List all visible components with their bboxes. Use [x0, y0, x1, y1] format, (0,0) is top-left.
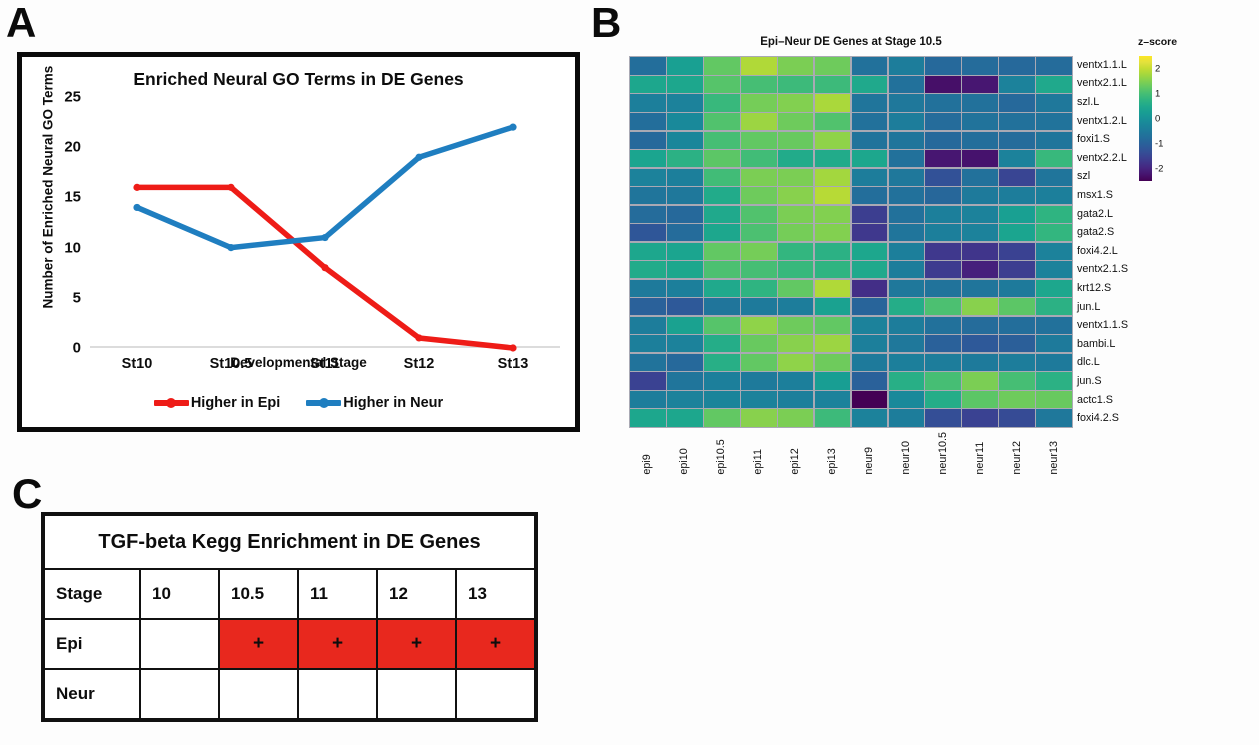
heatmap-cell — [962, 335, 997, 352]
heatmap-cell — [1036, 409, 1071, 426]
heatmap-cell — [778, 372, 813, 389]
heatmap-cell — [815, 409, 851, 426]
table-column-header: 12 — [377, 569, 456, 619]
heatmap-cell — [630, 57, 665, 74]
heatmap-row-label: jun.S — [1077, 372, 1128, 391]
heatmap-cell — [999, 409, 1035, 426]
x-tick-label: St10 — [122, 356, 153, 372]
heatmap-row-label: ventx1.1.S — [1077, 316, 1128, 335]
heatmap-cell — [667, 409, 703, 426]
heatmap-cell — [925, 335, 961, 352]
table-cell-empty — [298, 669, 377, 719]
heatmap-cell — [630, 261, 665, 278]
heatmap-cell — [852, 317, 888, 334]
colorbar-tick-label: -2 — [1155, 163, 1163, 174]
heatmap-cell — [741, 261, 777, 278]
heatmap-cell — [852, 391, 888, 408]
heatmap-cell — [925, 354, 961, 371]
heatmap-cell — [630, 150, 665, 167]
heatmap-cell — [741, 280, 777, 297]
heatmap-cell — [667, 354, 703, 371]
heatmap-cell — [630, 187, 665, 204]
data-point — [321, 234, 328, 241]
heatmap-cell — [630, 94, 665, 111]
table-column-header: 10.5 — [219, 569, 298, 619]
heatmap-cell — [925, 94, 961, 111]
heatmap-cell — [741, 224, 777, 241]
heatmap-cell — [778, 224, 813, 241]
heatmap-cell — [962, 391, 997, 408]
legend-label: Higher in Epi — [191, 395, 280, 411]
colorbar-tick-label: -1 — [1155, 138, 1163, 149]
heatmap-cell — [741, 169, 777, 186]
table-row-label: Epi — [44, 619, 140, 669]
legend-label: Higher in Neur — [343, 395, 443, 411]
heatmap-cell — [704, 409, 739, 426]
data-point — [415, 154, 422, 161]
table-row: Neur — [44, 669, 535, 719]
heatmap-column-label: neur10.5 — [938, 432, 949, 475]
heatmap-cell — [889, 150, 924, 167]
heatmap-cell — [778, 132, 813, 149]
heatmap-cell — [1036, 372, 1071, 389]
heatmap-cell — [667, 280, 703, 297]
heatmap-column-labels: epi9epi10epi10.5epi11epi12epi13neur9neur… — [629, 432, 1073, 475]
heatmap-row-label: actc1.S — [1077, 391, 1128, 410]
heatmap-cell — [815, 94, 851, 111]
heatmap-cell — [815, 280, 851, 297]
heatmap-cell — [741, 132, 777, 149]
heatmap-cell — [889, 391, 924, 408]
heatmap-cell — [1036, 243, 1071, 260]
heatmap-cell — [1036, 150, 1071, 167]
heatmap-cell — [962, 94, 997, 111]
table-column-header: 10 — [140, 569, 219, 619]
heatmap-cell — [962, 354, 997, 371]
heatmap-cell — [962, 243, 997, 260]
heatmap-cell — [778, 317, 813, 334]
heatmap-cell — [778, 57, 813, 74]
table-header-stage: Stage — [44, 569, 140, 619]
heatmap-cell — [778, 354, 813, 371]
heatmap-cell — [815, 317, 851, 334]
heatmap-column-label: epi13 — [827, 432, 838, 475]
heatmap-cell — [741, 409, 777, 426]
heatmap-cell — [704, 298, 739, 315]
heatmap-cell — [778, 206, 813, 223]
heatmap-cell — [741, 391, 777, 408]
heatmap-cell — [704, 94, 739, 111]
heatmap-cell — [925, 169, 961, 186]
heatmap-cell — [925, 132, 961, 149]
table-cell-enriched: + — [456, 619, 535, 669]
heatmap-cell — [1036, 280, 1071, 297]
heatmap-cell — [999, 76, 1035, 93]
heatmap-cell — [925, 57, 961, 74]
heatmap-cell — [741, 94, 777, 111]
heatmap-cell — [630, 280, 665, 297]
colorbar-tick-label: 0 — [1155, 113, 1160, 124]
heatmap-cell — [704, 224, 739, 241]
heatmap-cell — [667, 94, 703, 111]
heatmap-cell — [815, 113, 851, 130]
heatmap-cell — [925, 76, 961, 93]
heatmap-cell — [852, 206, 888, 223]
heatmap-cell — [852, 150, 888, 167]
heatmap-cell — [889, 298, 924, 315]
heatmap-cell — [741, 150, 777, 167]
heatmap-cell — [852, 76, 888, 93]
legend-entry[interactable]: Higher in Epi — [154, 395, 280, 411]
heatmap-cell — [778, 94, 813, 111]
heatmap-cell — [1036, 169, 1071, 186]
heatmap-cell — [630, 224, 665, 241]
heatmap-cell — [667, 150, 703, 167]
heatmap-cell — [815, 224, 851, 241]
heatmap-cell — [889, 409, 924, 426]
table-row: Epi++++ — [44, 619, 535, 669]
heatmap-cell — [704, 57, 739, 74]
heatmap-cell — [815, 354, 851, 371]
heatmap-column-label: epi9 — [642, 432, 653, 475]
heatmap-row-label: szl.L — [1077, 93, 1128, 112]
colorbar-title: z–score — [1138, 36, 1177, 48]
heatmap-cell — [999, 317, 1035, 334]
x-tick-label: St10.5 — [210, 356, 253, 372]
heatmap-cell — [925, 372, 961, 389]
heatmap-cell — [999, 391, 1035, 408]
heatmap-cell — [704, 113, 739, 130]
heatmap-cell — [999, 132, 1035, 149]
legend-marker-icon — [306, 400, 341, 406]
heatmap-cell — [999, 187, 1035, 204]
y-tick-label: 20 — [64, 139, 81, 156]
heatmap-cell — [962, 206, 997, 223]
heatmap-row-label: ventx1.1.L — [1077, 56, 1128, 75]
heatmap-cell — [815, 261, 851, 278]
heatmap-cell — [630, 76, 665, 93]
heatmap-row-label: msx1.S — [1077, 186, 1128, 205]
chart-legend: Higher in EpiHigher in Neur — [22, 395, 575, 411]
heatmap-cell — [630, 317, 665, 334]
heatmap-column-label: epi12 — [790, 432, 801, 475]
heatmap-cell — [925, 409, 961, 426]
data-point — [227, 184, 234, 191]
heatmap-cell — [962, 57, 997, 74]
heatmap-title: Epi–Neur DE Genes at Stage 10.5 — [629, 36, 1073, 48]
y-tick-label: 10 — [64, 239, 81, 256]
heatmap-cell — [889, 261, 924, 278]
table-title: TGF-beta Kegg Enrichment in DE Genes — [44, 515, 535, 569]
heatmap-cell — [741, 354, 777, 371]
heatmap-cell — [667, 372, 703, 389]
heatmap-cell — [962, 113, 997, 130]
heatmap-cell — [630, 372, 665, 389]
heatmap-row-label: krt12.S — [1077, 279, 1128, 298]
heatmap-cell — [1036, 391, 1071, 408]
y-axis-title: Number of Enriched Neural GO Terms — [41, 99, 56, 309]
y-tick-label: 25 — [64, 89, 81, 106]
legend-entry[interactable]: Higher in Neur — [306, 395, 443, 411]
heatmap-cell — [1036, 94, 1071, 111]
x-tick-label: St11 — [310, 356, 340, 372]
data-point — [133, 184, 140, 191]
heatmap-cell — [1036, 132, 1071, 149]
heatmap-row-label: ventx2.1.S — [1077, 261, 1128, 280]
heatmap-cell — [925, 113, 961, 130]
heatmap-column-label: epi10 — [679, 432, 690, 475]
heatmap-cell — [1036, 187, 1071, 204]
heatmap-cell — [667, 57, 703, 74]
heatmap-cell — [852, 372, 888, 389]
heatmap-cell — [815, 150, 851, 167]
heatmap-cell — [667, 113, 703, 130]
heatmap-cell — [962, 409, 997, 426]
panel-b-heatmap: Epi–Neur DE Genes at Stage 10.5 ventx1.1… — [591, 18, 1251, 488]
heatmap-cell — [667, 187, 703, 204]
heatmap-cell — [630, 243, 665, 260]
heatmap-cell — [704, 187, 739, 204]
heatmap-cell — [925, 224, 961, 241]
heatmap-cell — [667, 224, 703, 241]
tgf-beta-table: TGF-beta Kegg Enrichment in DE GenesStag… — [43, 514, 536, 720]
heatmap-column-label: neur9 — [864, 432, 875, 475]
x-tick-label: St12 — [404, 356, 435, 372]
heatmap-cell — [852, 113, 888, 130]
panel-a-line-chart: Enriched Neural GO Terms in DE Genes Num… — [17, 52, 580, 432]
heatmap-cell — [815, 57, 851, 74]
heatmap-column-label: neur13 — [1049, 432, 1060, 475]
panel-letter-c: C — [12, 473, 41, 515]
heatmap-cell — [630, 354, 665, 371]
heatmap-cell — [962, 372, 997, 389]
table-cell-empty — [140, 669, 219, 719]
table-cell-empty — [140, 619, 219, 669]
y-tick-label: 5 — [73, 289, 81, 306]
heatmap-cell — [925, 261, 961, 278]
line-chart-svg — [90, 97, 560, 348]
data-point — [509, 124, 516, 131]
heatmap-cell — [889, 317, 924, 334]
heatmap-cell — [741, 206, 777, 223]
heatmap-cell — [962, 261, 997, 278]
heatmap-cell — [999, 261, 1035, 278]
heatmap-cell — [667, 261, 703, 278]
heatmap-cell — [962, 280, 997, 297]
table-column-header: 11 — [298, 569, 377, 619]
heatmap-cell — [1036, 206, 1071, 223]
plot-area: 0510152025 St10St10.5St11St12St13 — [90, 97, 560, 348]
heatmap-cell — [667, 206, 703, 223]
data-point — [509, 344, 516, 351]
heatmap-row-label: ventx2.2.L — [1077, 149, 1128, 168]
heatmap-cell — [1036, 317, 1071, 334]
heatmap-cell — [704, 317, 739, 334]
heatmap-cell — [852, 132, 888, 149]
colorbar-tick-label: 2 — [1155, 63, 1160, 74]
heatmap-cell — [704, 391, 739, 408]
heatmap-cell — [962, 132, 997, 149]
heatmap-cell — [999, 57, 1035, 74]
x-axis-title: Developmental Stage — [22, 355, 575, 370]
data-point — [415, 334, 422, 341]
heatmap-cell — [815, 298, 851, 315]
heatmap-cell — [704, 206, 739, 223]
heatmap-grid — [629, 56, 1073, 428]
heatmap-cell — [741, 57, 777, 74]
heatmap-cell — [999, 298, 1035, 315]
legend-marker-icon — [154, 400, 189, 406]
heatmap-cell — [778, 280, 813, 297]
heatmap-cell — [704, 280, 739, 297]
table-cell-empty — [219, 669, 298, 719]
heatmap-cell — [852, 280, 888, 297]
heatmap-cell — [889, 280, 924, 297]
heatmap-cell — [704, 76, 739, 93]
chart-title: Enriched Neural GO Terms in DE Genes — [22, 69, 575, 90]
heatmap-cell — [667, 169, 703, 186]
heatmap-row-label: dlc.L — [1077, 354, 1128, 373]
heatmap-cell — [925, 243, 961, 260]
panel-c-table-wrap: TGF-beta Kegg Enrichment in DE GenesStag… — [41, 512, 538, 722]
heatmap-cell — [741, 243, 777, 260]
panel-letter-a: A — [6, 2, 35, 44]
heatmap-column-label: epi10.5 — [716, 432, 727, 475]
table-cell-enriched: + — [298, 619, 377, 669]
heatmap-cell — [630, 132, 665, 149]
heatmap-row-label: jun.L — [1077, 298, 1128, 317]
heatmap-column-label: epi11 — [753, 432, 764, 475]
series-higher-in-epi — [133, 184, 516, 352]
y-tick-label: 0 — [73, 340, 81, 357]
heatmap-cell — [630, 391, 665, 408]
heatmap-cell — [741, 187, 777, 204]
heatmap-cell — [999, 243, 1035, 260]
heatmap-cell — [667, 132, 703, 149]
heatmap-cell — [1036, 224, 1071, 241]
heatmap-cell — [1036, 298, 1071, 315]
heatmap-cell — [999, 372, 1035, 389]
heatmap-cell — [889, 372, 924, 389]
heatmap-cell — [999, 354, 1035, 371]
heatmap-row-label: foxi1.S — [1077, 130, 1128, 149]
colorbar-tick-label: 1 — [1155, 88, 1160, 99]
heatmap-cell — [815, 243, 851, 260]
heatmap-cell — [889, 132, 924, 149]
data-point — [321, 264, 328, 271]
heatmap-cell — [852, 354, 888, 371]
heatmap-cell — [962, 169, 997, 186]
heatmap-cell — [889, 224, 924, 241]
heatmap-cell — [962, 298, 997, 315]
heatmap-cell — [815, 132, 851, 149]
heatmap-cell — [815, 206, 851, 223]
table-cell-enriched: + — [219, 619, 298, 669]
table-cell-empty — [377, 669, 456, 719]
heatmap-cell — [778, 261, 813, 278]
heatmap-cell — [889, 243, 924, 260]
heatmap-cell — [999, 169, 1035, 186]
heatmap-cell — [704, 372, 739, 389]
heatmap-row-label: foxi4.2.L — [1077, 242, 1128, 261]
heatmap-cell — [815, 391, 851, 408]
heatmap-cell — [667, 391, 703, 408]
table-header-row: Stage1010.5111213 — [44, 569, 535, 619]
heatmap-row-label: gata2.L — [1077, 205, 1128, 224]
heatmap-column-label: neur12 — [1012, 432, 1023, 475]
table-title-row: TGF-beta Kegg Enrichment in DE Genes — [44, 515, 535, 569]
heatmap-row-label: bambi.L — [1077, 335, 1128, 354]
heatmap-cell — [815, 335, 851, 352]
heatmap-cell — [852, 298, 888, 315]
heatmap-cell — [667, 317, 703, 334]
x-tick-label: St13 — [498, 356, 529, 372]
heatmap-row-label: szl — [1077, 168, 1128, 187]
heatmap-cell — [704, 169, 739, 186]
heatmap-row-labels: ventx1.1.Lventx2.1.Lszl.Lventx1.2.Lfoxi1… — [1077, 56, 1128, 428]
heatmap-cell — [1036, 76, 1071, 93]
heatmap-cell — [630, 206, 665, 223]
heatmap-cell — [630, 335, 665, 352]
heatmap-cell — [815, 169, 851, 186]
heatmap-cell — [999, 206, 1035, 223]
heatmap-cell — [630, 409, 665, 426]
heatmap-cell — [852, 94, 888, 111]
heatmap-cell — [778, 113, 813, 130]
heatmap-cell — [889, 335, 924, 352]
heatmap-cell — [741, 298, 777, 315]
data-point — [133, 204, 140, 211]
data-point — [227, 244, 234, 251]
heatmap-row-label: ventx1.2.L — [1077, 112, 1128, 131]
heatmap-cell — [1036, 335, 1071, 352]
heatmap-cell — [630, 169, 665, 186]
heatmap-cell — [741, 372, 777, 389]
heatmap-cell — [962, 224, 997, 241]
y-tick-label: 15 — [64, 189, 81, 206]
heatmap-cell — [889, 57, 924, 74]
heatmap-cell — [852, 169, 888, 186]
heatmap-cell — [704, 150, 739, 167]
figure-root: A B C Enriched Neural GO Terms in DE Gen… — [0, 0, 1259, 745]
heatmap-row-label: ventx2.1.L — [1077, 75, 1128, 94]
heatmap-cell — [704, 243, 739, 260]
heatmap-cell — [962, 150, 997, 167]
heatmap-column-label: neur10 — [901, 432, 912, 475]
heatmap-cell — [999, 113, 1035, 130]
heatmap-cell — [630, 113, 665, 130]
heatmap-cell — [962, 76, 997, 93]
heatmap-cell — [852, 57, 888, 74]
heatmap-row-label: gata2.S — [1077, 223, 1128, 242]
heatmap-row-label: foxi4.2.S — [1077, 409, 1128, 428]
heatmap-cell — [704, 335, 739, 352]
heatmap-cell — [815, 76, 851, 93]
heatmap-cell — [889, 206, 924, 223]
heatmap-cell — [667, 76, 703, 93]
heatmap-cell — [704, 132, 739, 149]
heatmap-cell — [815, 372, 851, 389]
heatmap-cell — [778, 335, 813, 352]
colorbar-gradient — [1139, 56, 1152, 181]
heatmap-cell — [1036, 261, 1071, 278]
heatmap-cell — [778, 391, 813, 408]
heatmap-cell — [1036, 57, 1071, 74]
heatmap-cell — [667, 335, 703, 352]
heatmap-cell — [778, 243, 813, 260]
heatmap-cell — [889, 76, 924, 93]
heatmap-cell — [962, 187, 997, 204]
